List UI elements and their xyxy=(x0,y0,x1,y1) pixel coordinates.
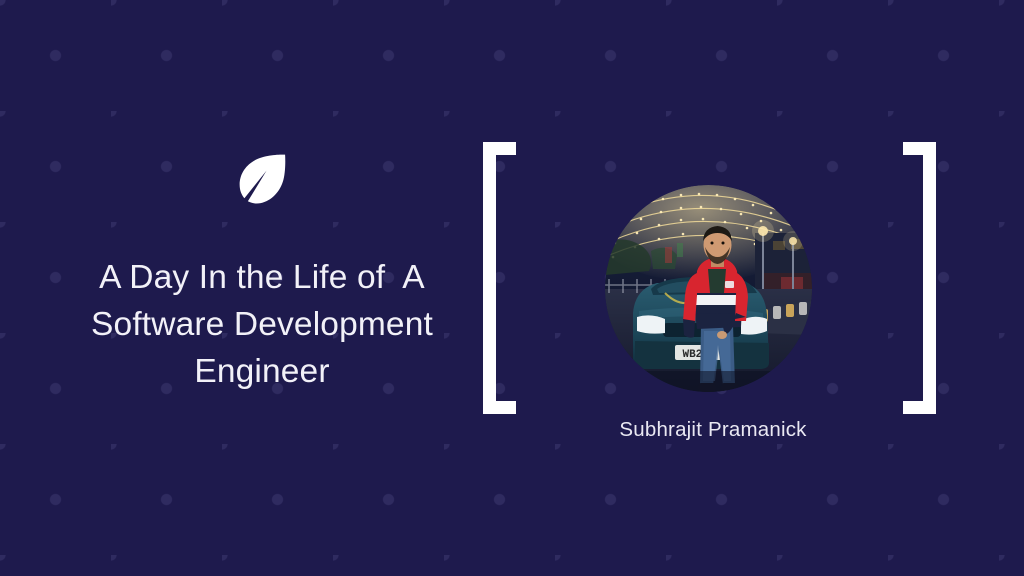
speaker-avatar: WB24A xyxy=(605,185,812,392)
leaf-icon xyxy=(233,150,291,208)
page-title: A Day In the Life of A Software Developm… xyxy=(62,254,462,395)
right-bracket-decoration xyxy=(903,142,936,414)
speaker-name: Subhrajit Pramanick xyxy=(563,418,863,442)
presentation-slide: A Day In the Life of A Software Developm… xyxy=(0,0,1024,576)
title-block: A Day In the Life of A Software Developm… xyxy=(62,150,462,395)
left-bracket-decoration xyxy=(483,142,516,414)
